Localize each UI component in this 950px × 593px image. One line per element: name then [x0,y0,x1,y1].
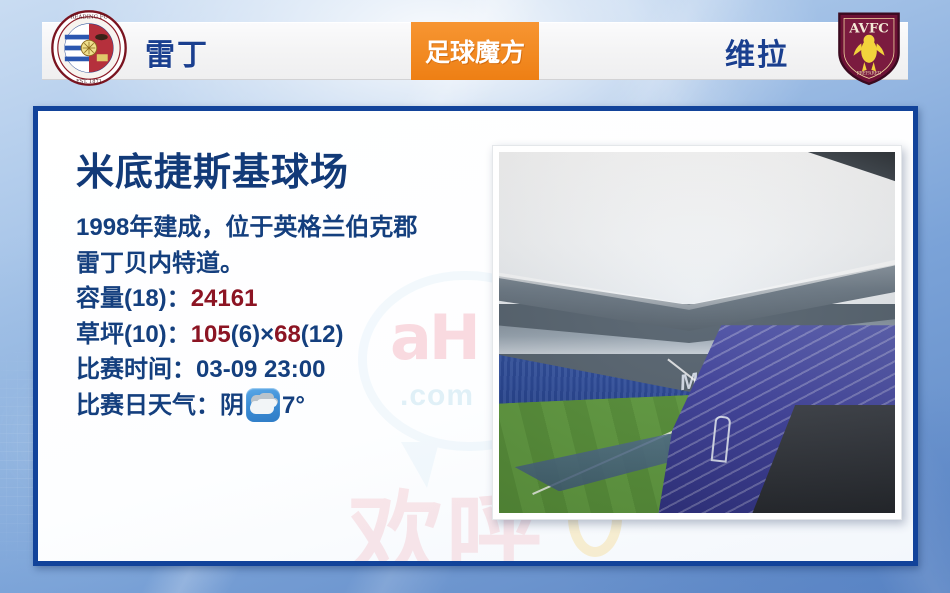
pitch-width-rank: (12) [301,321,344,348]
capacity-value: 24161 [191,285,258,312]
home-team-crest[interactable]: READING FC EST. 1871 [50,8,128,88]
stadium-title: 米底捷斯基球场 [76,141,417,196]
stadium-description-line-1: 1998年建成，位于英格兰伯克郡 [76,210,417,246]
stadium-photo: Madejski Stadium [499,152,895,513]
stadium-capacity-row: 容量(18)：24161 [76,281,417,317]
weather-condition: 阴 [220,388,244,424]
home-team-name: 雷丁 [145,30,209,74]
reading-fc-crest-icon: READING FC EST. 1871 [50,8,128,88]
stadium-info-page: READING FC EST. 1871 雷丁 足球魔方 维拉 AVFC [0,0,950,593]
stadium-info-block: 米底捷斯基球场 1998年建成，位于英格兰伯克郡 雷丁贝内特道。 容量(18)：… [76,141,417,423]
away-team-name: 维拉 [725,30,789,74]
pitch-times-symbol: × [260,321,274,348]
weather-temperature: 7° [282,388,305,424]
match-time-label: 比赛时间： [76,356,196,383]
stadium-description-line-2: 雷丁贝内特道。 [76,246,417,282]
photo-tint-overlay [499,152,895,513]
pitch-label: 草坪(10)： [76,321,191,348]
pitch-length-rank: (6) [231,321,260,348]
match-header: READING FC EST. 1871 雷丁 足球魔方 维拉 AVFC [0,0,950,96]
pitch-width-value: 68 [274,321,301,348]
capacity-label: 容量(18)： [76,285,191,312]
panel-inner: aH .com 欢呼 米底捷斯基球场 1998年建成，位于英格兰伯克郡 雷丁贝内… [38,111,913,561]
site-logo[interactable]: 足球魔方 [411,22,539,80]
match-weather-row: 比赛日天气：阴 7° [76,388,417,424]
crest-letters: AVFC [848,21,889,36]
cloudy-weather-icon [246,388,280,422]
content-panel: aH .com 欢呼 米底捷斯基球场 1998年建成，位于英格兰伯克郡 雷丁贝内… [33,106,918,566]
site-logo-text: 足球魔方 [425,33,525,69]
aston-villa-crest-icon: AVFC PREPARED [830,8,908,88]
weather-label: 比赛日天气： [76,388,220,424]
stadium-photo-frame[interactable]: Madejski Stadium [492,145,902,520]
cloud-front-shape [250,402,274,414]
match-time-value: 03-09 23:00 [196,356,325,383]
match-time-row: 比赛时间：03-09 23:00 [76,352,417,388]
crest-motto: PREPARED [857,72,882,77]
crest-bottom-text: EST. 1871 [76,79,102,85]
away-team-crest[interactable]: AVFC PREPARED [830,8,908,88]
pitch-length-value: 105 [191,321,231,348]
stadium-pitch-row: 草坪(10)：105(6)×68(12) [76,317,417,353]
crest-top-text: READING FC [70,14,107,20]
